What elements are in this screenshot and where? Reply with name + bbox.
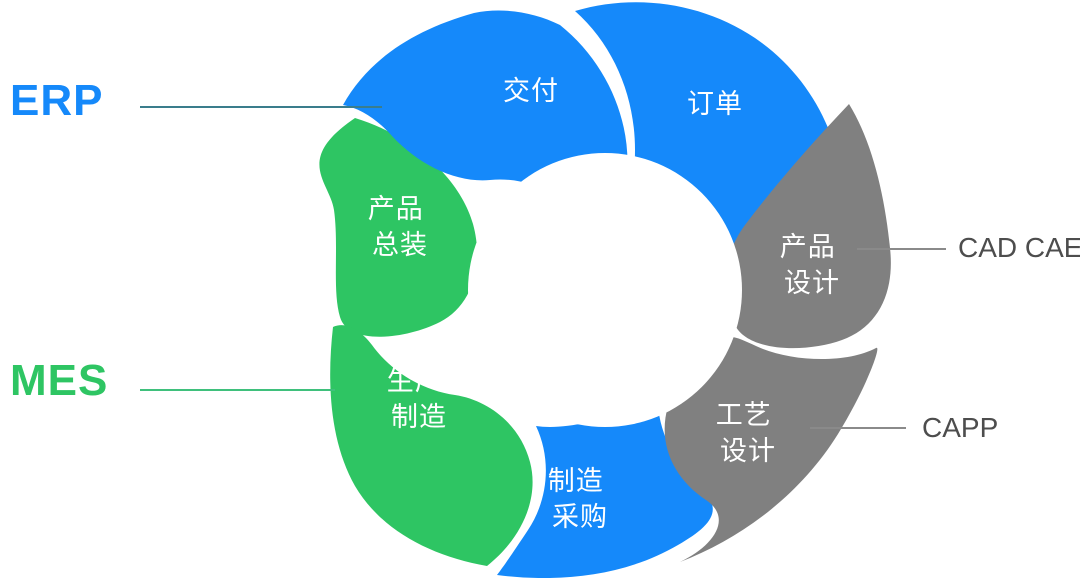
annotation-label-capp[interactable]: CAPP: [922, 412, 998, 444]
annotation-label-erp[interactable]: ERP: [10, 76, 103, 126]
annotation-label-mes[interactable]: MES: [10, 356, 108, 406]
segment-label-delivery: 交付: [503, 76, 559, 106]
process-cycle-donut: 交付 订单 产品 设计 工艺 设计 制造 采购 生产 制造 产品: [0, 0, 1080, 578]
segment-label-order: 订单: [687, 89, 743, 119]
donut-center-hole: [468, 153, 742, 427]
diagram-canvas: 交付 订单 产品 设计 工艺 设计 制造 采购 生产 制造 产品: [0, 0, 1080, 578]
annotation-label-cad-cae[interactable]: CAD CAE: [958, 232, 1080, 264]
